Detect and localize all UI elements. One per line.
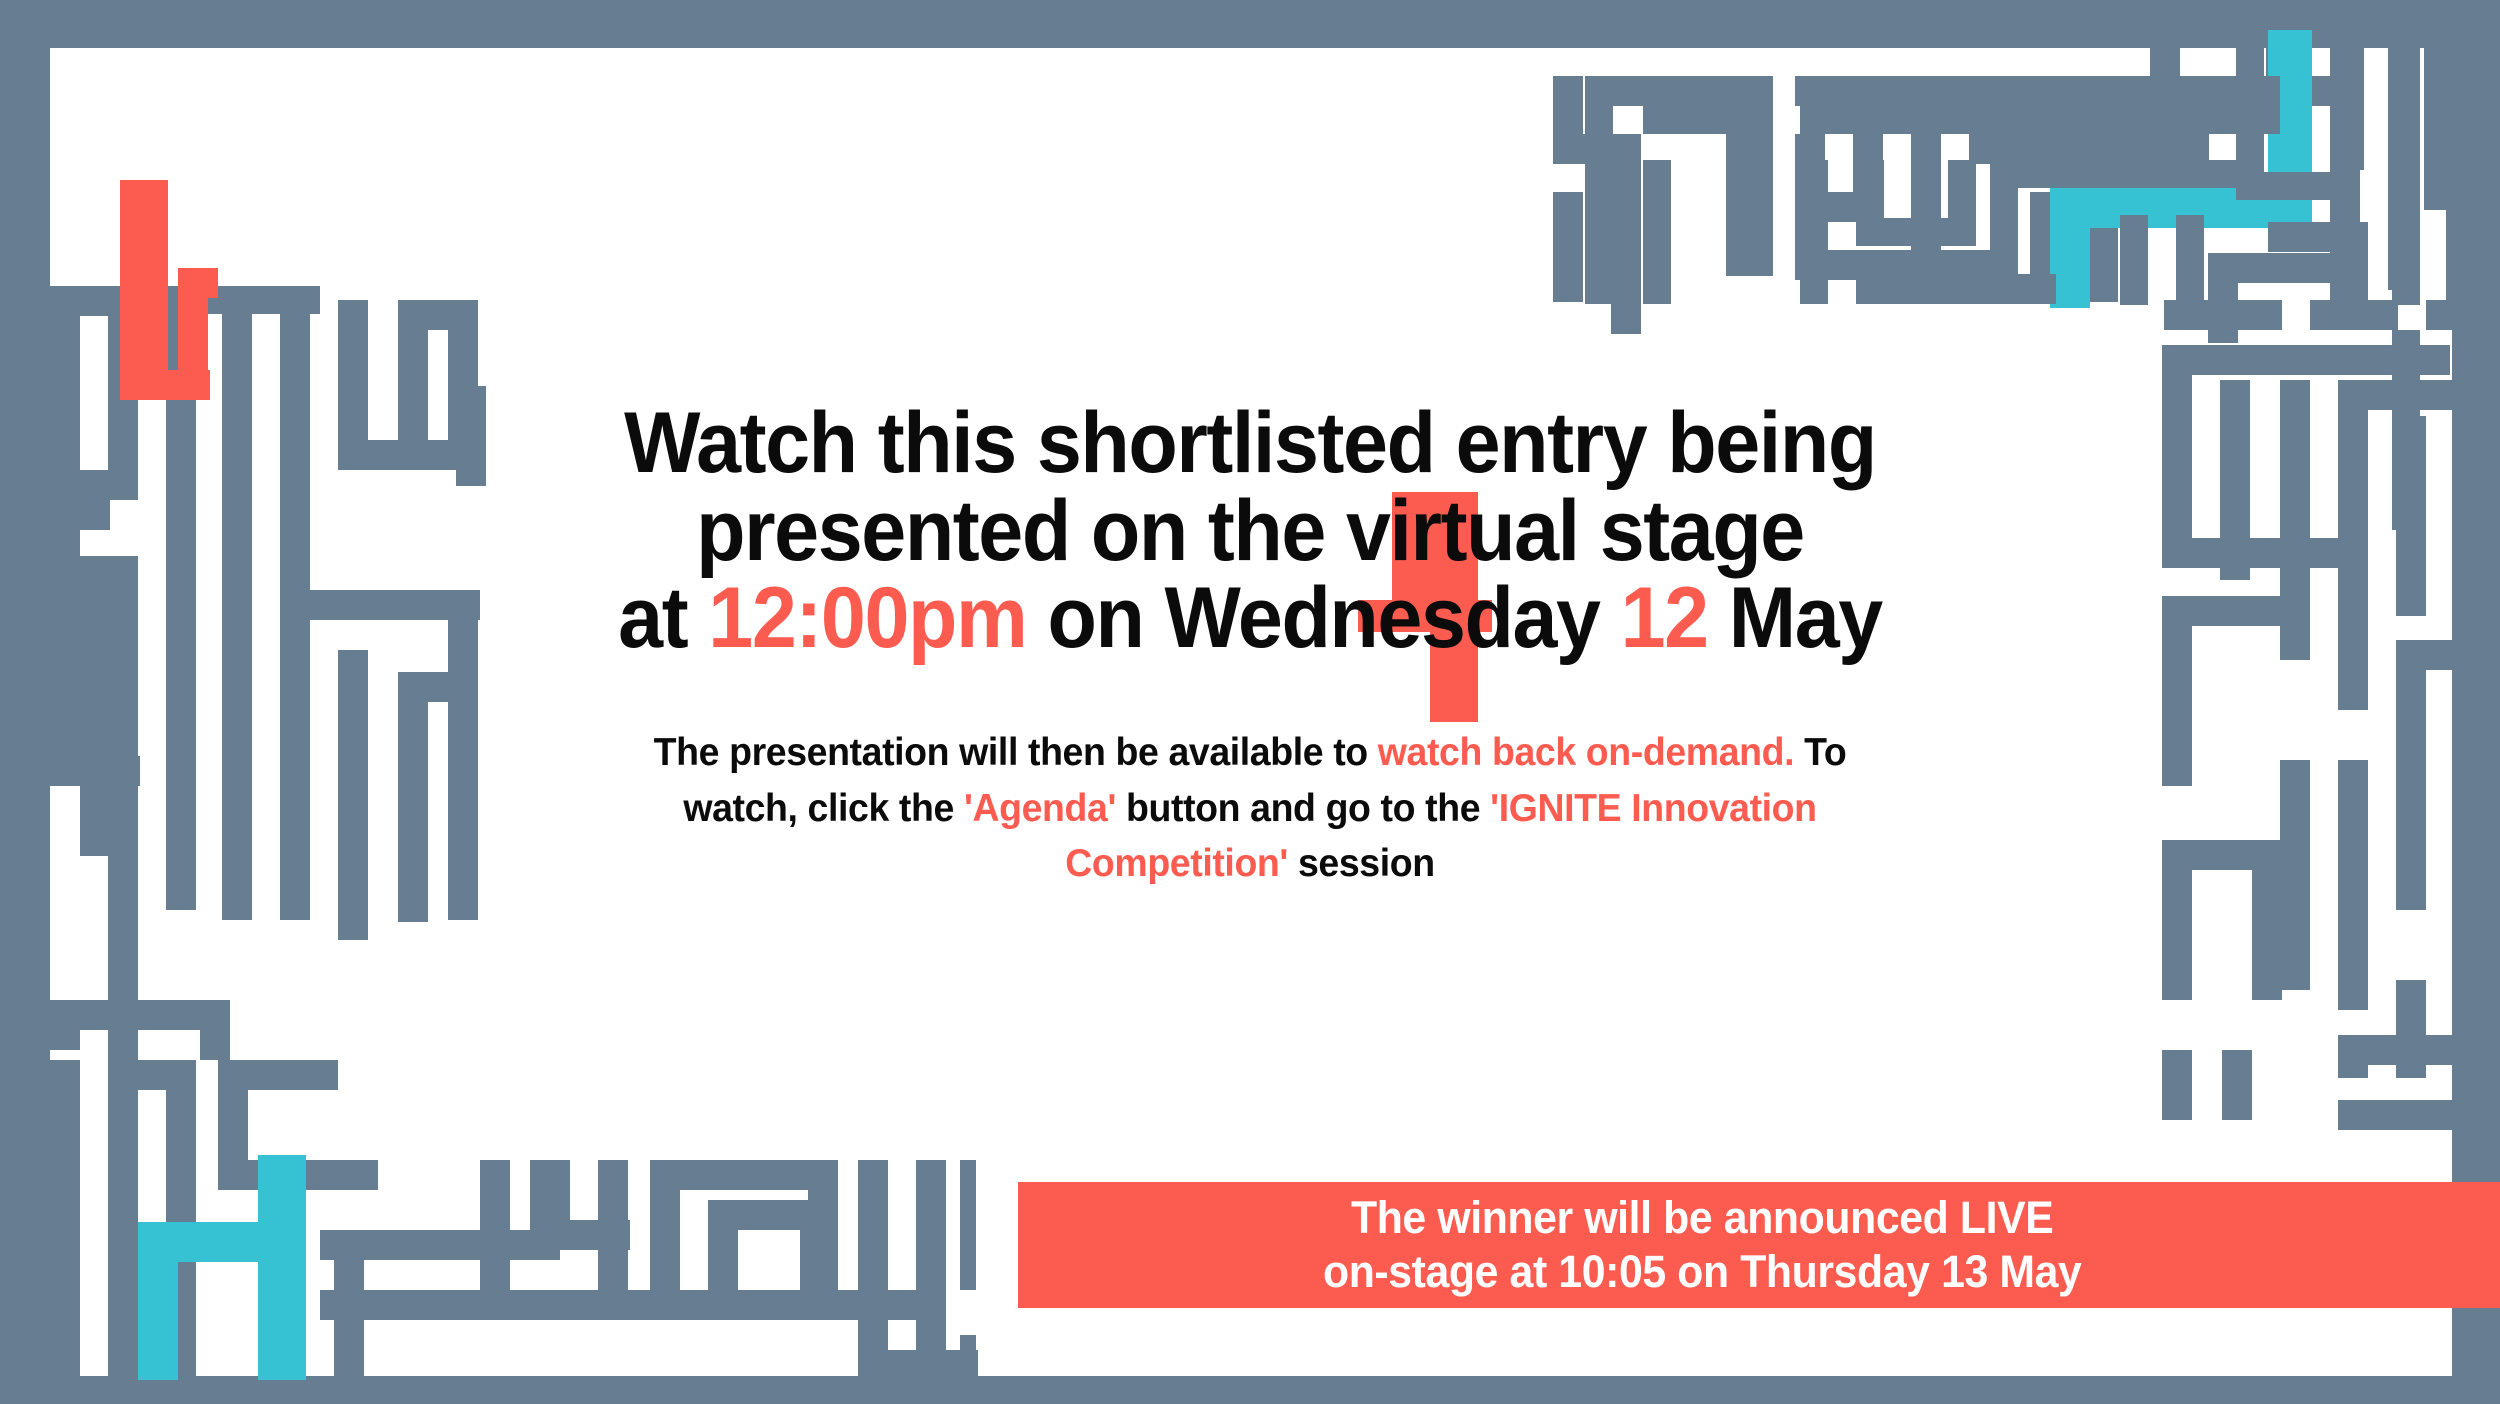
headline-line-2: presented on the virtual stage [696,483,1804,579]
banner-text: The winner will be announced LIVEon-stag… [1323,1191,2195,1299]
headline-line-3-suffix: May [1708,570,1882,666]
slide-canvas: Watch this shortlisted entry beingpresen… [0,0,2500,1404]
subtitle-part-5: button and go to the [1116,787,1490,830]
subtitle-watch-back-on-demand: watch back on-demand. [1378,731,1794,774]
headline-time: 12:00pm [708,570,1026,666]
headline-line-3-middle: on Wednesday [1026,570,1620,666]
headline-line-1: Watch this shortlisted entry being [624,395,1876,491]
headline-day-number: 12 [1621,570,1708,666]
subtitle-part-7: session [1288,842,1435,885]
banner-line-1: The winner will be announced LIVE [1351,1192,2053,1243]
subtitle-text: The presentation will then be available … [612,725,1889,891]
subtitle-agenda-button-name: 'Agenda' [964,787,1116,830]
winner-announcement-banner: The winner will be announced LIVEon-stag… [1018,1182,2500,1308]
page-title: Watch this shortlisted entry beingpresen… [385,400,2115,663]
subtitle-part-1: The presentation will then be available … [654,731,1378,774]
headline-line-3-prefix: at [618,570,708,666]
slide-content: Watch this shortlisted entry beingpresen… [330,400,2170,891]
banner-line-2: on-stage at 10:05 on Thursday 13 May [1323,1246,2081,1297]
